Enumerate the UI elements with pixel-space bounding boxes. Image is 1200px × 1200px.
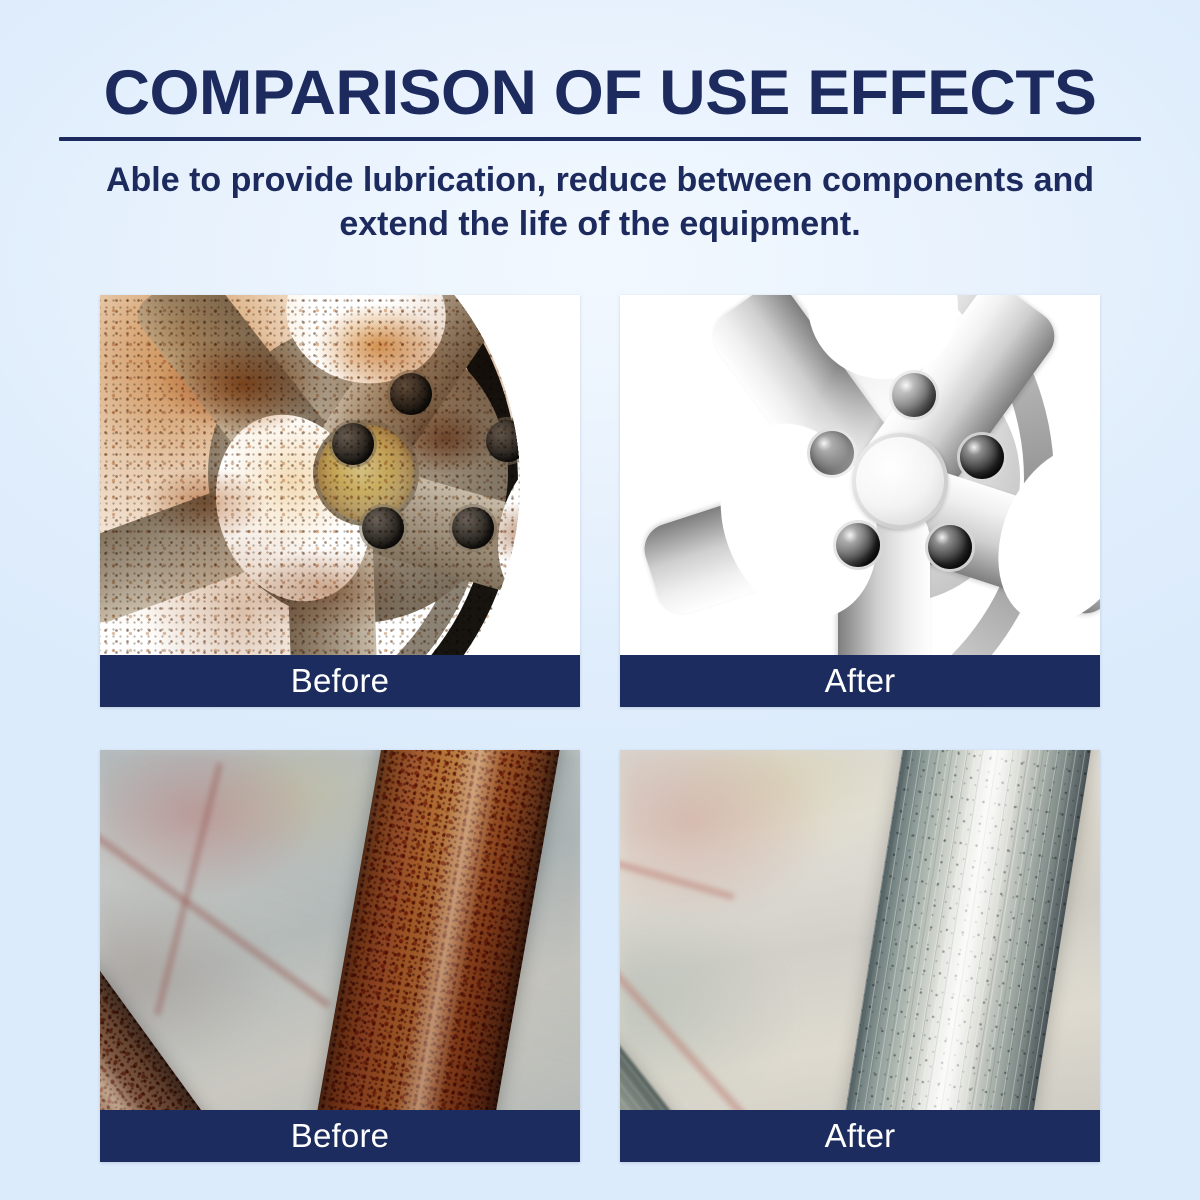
photo-clean-wheel (620, 295, 1100, 655)
caption-after: After (620, 655, 1100, 707)
comparison-grid: Before Afte (100, 295, 1100, 1162)
photo-rusty-pipe (100, 750, 580, 1110)
comparison-infographic: COMPARISON OF USE EFFECTS Able to provid… (0, 0, 1200, 1200)
title-divider-rule (59, 137, 1141, 141)
panel-pipe-before: Before (100, 750, 580, 1162)
wheel-center-cap (852, 433, 948, 529)
wheel-lug-nut (960, 435, 1004, 479)
wheel-lug-nut (836, 523, 880, 567)
photo-rusty-wheel (100, 295, 580, 655)
caption-after: After (620, 1110, 1100, 1162)
photo-clean-pipe (620, 750, 1100, 1110)
photo-white-backdrop (100, 295, 580, 655)
wheel-lug-nut (928, 525, 972, 569)
panel-wheel-after: After (620, 295, 1100, 707)
panel-wheel-before: Before (100, 295, 580, 707)
page-title: COMPARISON OF USE EFFECTS (49, 62, 1151, 125)
panel-pipe-after: After (620, 750, 1100, 1162)
wheel-lug-nut (810, 431, 854, 475)
caption-before: Before (100, 1110, 580, 1162)
wheel-lug-nut (892, 373, 936, 417)
subtitle-text: Able to provide lubrication, reduce betw… (50, 159, 1150, 246)
subtitle-line-1: Able to provide lubrication, reduce betw… (50, 159, 1150, 203)
header-block: COMPARISON OF USE EFFECTS Able to provid… (0, 0, 1200, 246)
caption-before: Before (100, 655, 580, 707)
subtitle-line-2: extend the life of the equipment. (50, 203, 1150, 247)
